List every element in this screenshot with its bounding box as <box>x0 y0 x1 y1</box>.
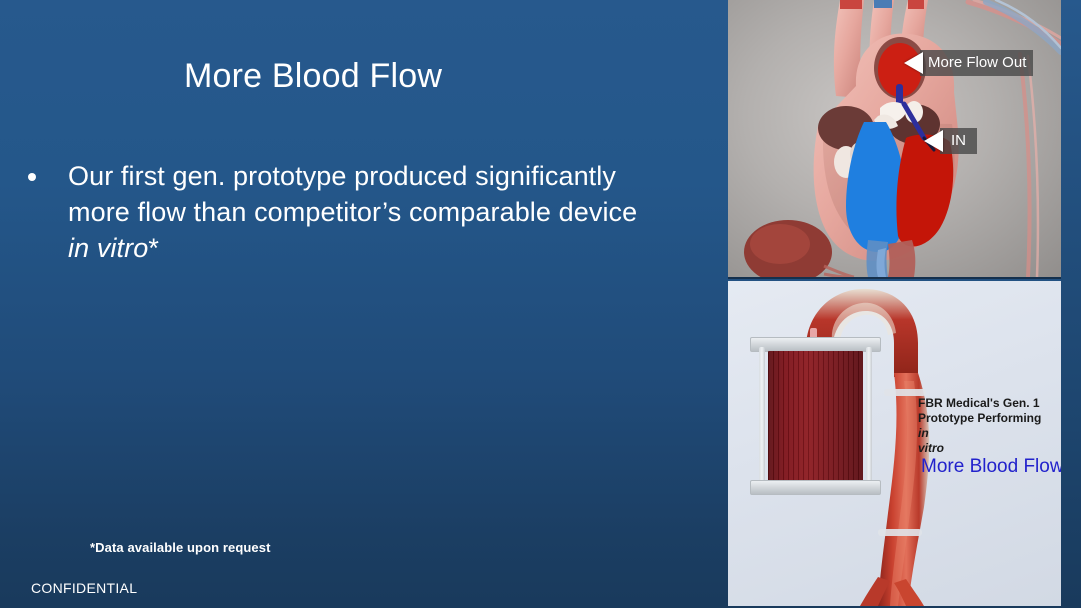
slide-title: More Blood Flow <box>184 56 442 96</box>
bullet-text-main: Our first gen. prototype produced signif… <box>68 161 637 227</box>
bullet-text-italic: in vitro <box>68 233 148 263</box>
photo-caption: FBR Medical's Gen. 1 Prototype Performin… <box>918 396 1046 456</box>
photo-caption-line2: Prototype Performing <box>918 411 1041 425</box>
device-top-plate <box>750 337 881 352</box>
bullet-text-asterisk: * <box>148 233 159 263</box>
footnote-text: *Data available upon request <box>90 540 271 555</box>
heart-illustration-image: More Flow Out IN <box>728 0 1061 279</box>
bullet-dot-icon <box>28 173 36 181</box>
right-edge-strip <box>1061 0 1081 608</box>
bullet-text: Our first gen. prototype produced signif… <box>68 158 664 266</box>
photo-caption-italic-vitro: vitro <box>918 441 944 455</box>
device-fiber-bundle <box>768 351 863 482</box>
prototype-photo-image: FBR Medical's Gen. 1 Prototype Performin… <box>728 281 1061 606</box>
prototype-device-graphic <box>750 337 881 495</box>
bullet-list-item: Our first gen. prototype produced signif… <box>24 158 664 266</box>
device-post-left <box>759 347 765 487</box>
photo-headline: More Blood Flow <box>921 456 1061 478</box>
presentation-slide: More Blood Flow Our first gen. prototype… <box>0 0 1081 608</box>
confidential-label: CONFIDENTIAL <box>31 580 137 596</box>
photo-caption-line1: FBR Medical's Gen. 1 <box>918 396 1040 410</box>
device-post-right <box>866 347 872 487</box>
photo-caption-italic-in: in <box>918 426 929 440</box>
heart-anatomy-graphic <box>728 0 1061 277</box>
device-bottom-plate <box>750 480 881 495</box>
